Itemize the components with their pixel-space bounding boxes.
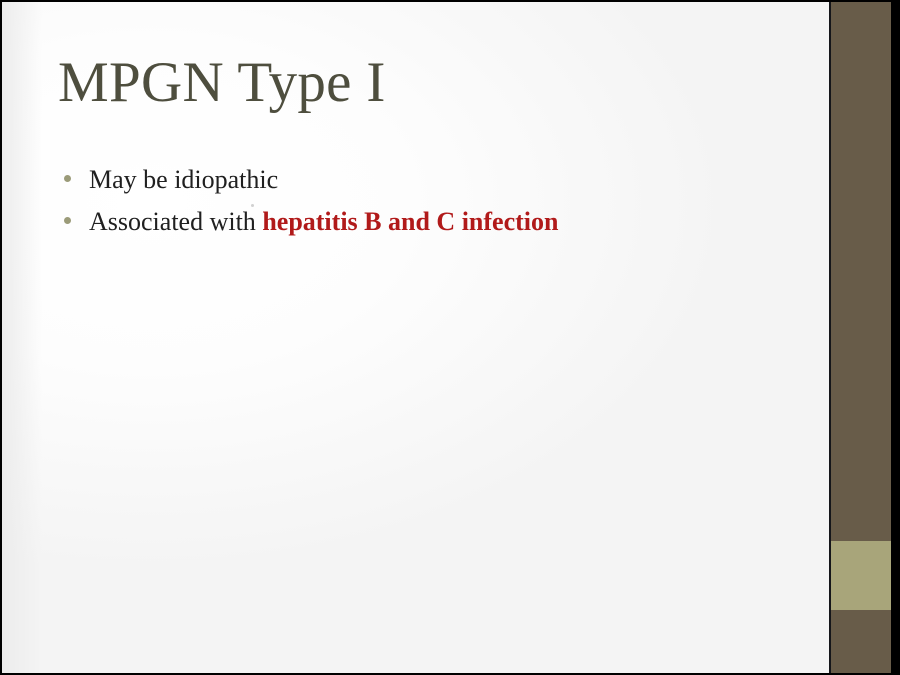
bullet-list: May be idiopathic Associated with hepati…: [64, 165, 764, 248]
slide-canvas: MPGN Type I May be idiopathic Associated…: [2, 2, 831, 673]
bullet-item-1: May be idiopathic: [64, 165, 764, 196]
bullet-text-2-highlight: hepatitis B and C infection: [262, 207, 558, 236]
presentation-slide: MPGN Type I May be idiopathic Associated…: [0, 0, 900, 675]
bullet-item-2: Associated with hepatitis B and C infect…: [64, 207, 764, 238]
bullet-text-2: Associated with hepatitis B and C infect…: [89, 207, 558, 238]
bullet-dot-icon: [64, 217, 71, 224]
canvas-left-shade: [2, 2, 42, 673]
sidebar-decorative-bar: [831, 2, 891, 673]
slide-title: MPGN Type I: [58, 53, 386, 113]
bullet-text-1: May be idiopathic: [89, 165, 278, 196]
bullet-text-2-plain: Associated with: [89, 207, 262, 236]
bullet-dot-icon: [64, 175, 71, 182]
bullet-text-1-plain: May be idiopathic: [89, 165, 278, 194]
sidebar-accent-block: [831, 541, 891, 610]
image-artifact-speck: [251, 204, 254, 207]
slide-right-frame: [891, 0, 900, 675]
